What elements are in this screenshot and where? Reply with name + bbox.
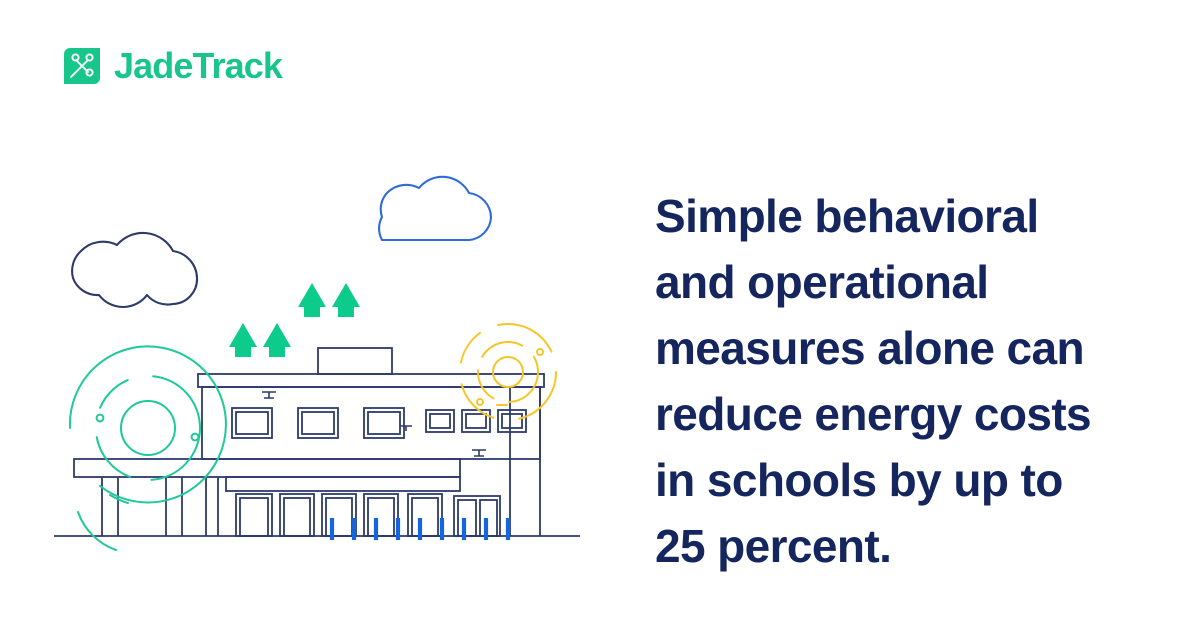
- headline-line-5: in schools by up to: [655, 447, 1155, 513]
- brand-wordmark: JadeTrack: [114, 48, 282, 84]
- headline-line-3: measures alone can: [655, 315, 1155, 381]
- headline-line-4: reduce energy costs: [655, 381, 1155, 447]
- promo-graphic: JadeTrack: [0, 0, 1200, 627]
- entrance-doors: [236, 494, 442, 536]
- school-building-illustration: [40, 120, 620, 580]
- headline-line-1: Simple behavioral: [655, 183, 1155, 249]
- school-building: [54, 348, 580, 536]
- headline: Simple behavioral and operational measur…: [655, 183, 1155, 579]
- tree-pair-left: [229, 323, 291, 357]
- headline-line-6: 25 percent.: [655, 513, 1155, 579]
- cloud-blue-right: [379, 177, 491, 240]
- signal-rings-yellow: [460, 324, 556, 420]
- jadetrack-leaf-circuit-icon: [62, 46, 102, 86]
- tree-pair-right: [298, 283, 360, 317]
- side-doors: [454, 496, 500, 536]
- cloud-navy-left: [72, 233, 197, 307]
- right-block-windows: [426, 410, 526, 432]
- brand-logo[interactable]: JadeTrack: [62, 46, 282, 86]
- illustration-svg: [40, 120, 620, 580]
- canopy-columns: [102, 477, 218, 536]
- upper-windows: [232, 408, 404, 438]
- roof-vent-marks: [262, 392, 486, 456]
- headline-line-2: and operational: [655, 249, 1155, 315]
